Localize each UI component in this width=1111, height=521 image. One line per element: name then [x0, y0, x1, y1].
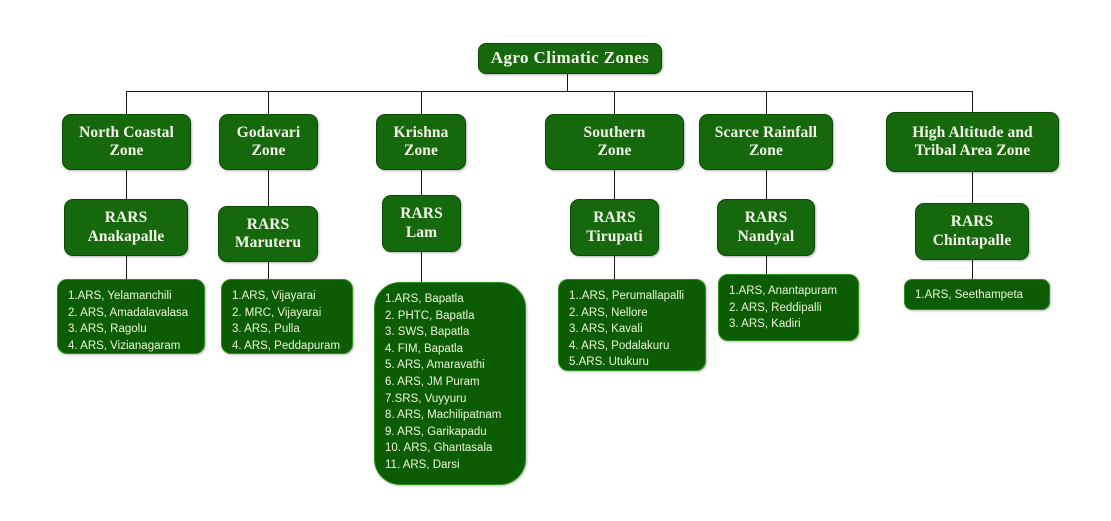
- connector-drop-scarce-rainfall: [766, 91, 767, 115]
- list-item: 1..ARS, Perumallapalli: [569, 288, 705, 305]
- zone-label-line1: High Altitude and: [912, 124, 1033, 142]
- zone-label-line2: Zone: [394, 142, 449, 160]
- station-list-maruteru[interactable]: 1.ARS, Vijayarai 2. MRC, Vijayarai 3. AR…: [221, 279, 353, 354]
- list-item: 10. ARS, Ghantasala: [385, 440, 525, 457]
- connector-scarce-to-rars: [766, 170, 767, 199]
- station-list: 1.ARS, Bapatla 2. PHTC, Bapatla 3. SWS, …: [385, 291, 525, 474]
- list-item: 4. FIM, Bapatla: [385, 341, 525, 358]
- zone-node-north-coastal[interactable]: North Coastal Zone: [62, 114, 191, 170]
- rars-node-nandyal[interactable]: RARS Nandyal: [717, 199, 815, 256]
- rars-label-line2: Anakapalle: [88, 228, 165, 246]
- connector-rars-tirupati-to-list: [614, 256, 615, 279]
- rars-node-maruteru[interactable]: RARS Maruteru: [218, 206, 318, 262]
- rars-label-line2: Chintapalle: [933, 232, 1012, 250]
- rars-node-chintapalle[interactable]: RARS Chintapalle: [915, 203, 1029, 260]
- station-list-lam[interactable]: 1.ARS, Bapatla 2. PHTC, Bapatla 3. SWS, …: [374, 282, 526, 485]
- connector-north-coastal-to-rars: [126, 170, 127, 199]
- list-item: 2. MRC, Vijayarai: [232, 305, 352, 322]
- list-item: 6. ARS, JM Puram: [385, 374, 525, 391]
- list-item: 7.SRS, Vuyyuru: [385, 391, 525, 408]
- connector-drop-high-altitude: [972, 91, 973, 112]
- list-item: 4. ARS, Vizianagaram: [68, 338, 204, 355]
- list-item: 3. ARS, Pulla: [232, 321, 352, 338]
- station-list: 1.ARS, Vijayarai 2. MRC, Vijayarai 3. AR…: [232, 288, 352, 354]
- list-item: 2. PHTC, Bapatla: [385, 308, 525, 325]
- list-item: 3. SWS, Bapatla: [385, 324, 525, 341]
- station-list: 1..ARS, Perumallapalli 2. ARS, Nellore 3…: [569, 288, 705, 371]
- agro-climatic-zones-diagram: Agro Climatic Zones North Coastal Zone G…: [0, 0, 1111, 521]
- list-item: 1.ARS, Yelamanchili: [68, 288, 204, 305]
- rars-label-line1: RARS: [88, 209, 165, 227]
- connector-rars-chintapalle-to-list: [972, 260, 973, 279]
- connector-southern-to-rars: [614, 170, 615, 199]
- zone-node-krishna[interactable]: Krishna Zone: [376, 114, 466, 170]
- connector-krishna-to-rars: [421, 170, 422, 195]
- zone-node-southern[interactable]: Southern Zone: [545, 114, 684, 170]
- rars-node-anakapalle[interactable]: RARS Anakapalle: [64, 199, 188, 256]
- zone-label-line2: Zone: [584, 142, 646, 160]
- rars-label-line2: Maruteru: [235, 234, 301, 252]
- list-item: 4. ARS, Podalakuru: [569, 338, 705, 355]
- zone-label-line1: North Coastal: [79, 124, 174, 142]
- connector-drop-southern: [614, 91, 615, 115]
- connector-rars-anakapalle-to-list: [126, 256, 127, 279]
- list-item: 3. ARS, Kadiri: [729, 316, 858, 333]
- station-list-nandyal[interactable]: 1.ARS, Anantapuram 2. ARS, Reddipalli 3.…: [718, 274, 859, 341]
- station-list-tirupati[interactable]: 1..ARS, Perumallapalli 2. ARS, Nellore 3…: [558, 279, 706, 371]
- list-item: 5. ARS, Amaravathi: [385, 357, 525, 374]
- list-item: 2. ARS, Reddipalli: [729, 300, 858, 317]
- connector-high-altitude-to-rars: [972, 172, 973, 203]
- zone-node-scarce-rainfall[interactable]: Scarce Rainfall Zone: [699, 114, 833, 170]
- zone-label-line1: Krishna: [394, 124, 449, 142]
- zone-label-line2: Zone: [715, 142, 817, 160]
- rars-label-line1: RARS: [586, 209, 643, 227]
- zone-node-godavari[interactable]: Godavari Zone: [219, 114, 318, 170]
- station-list: 1.ARS, Yelamanchili 2. ARS, Amadalavalas…: [68, 288, 204, 354]
- zone-label-line2: Zone: [237, 142, 301, 160]
- connector-drop-godavari: [268, 91, 269, 115]
- list-item: 1.ARS, Anantapuram: [729, 283, 858, 300]
- rars-label-line1: RARS: [738, 209, 795, 227]
- connector-drop-krishna: [421, 91, 422, 115]
- zone-label-line2: Zone: [79, 142, 174, 160]
- zone-label-line1: Southern: [584, 124, 646, 142]
- list-item: 3. ARS, Kavali: [569, 321, 705, 338]
- rars-label-line2: Nandyal: [738, 228, 795, 246]
- list-item: 2. ARS, Nellore: [569, 305, 705, 322]
- connector-godavari-to-rars: [268, 170, 269, 206]
- list-item: 11. ARS, Darsi: [385, 457, 525, 474]
- list-item: 1.ARS, Bapatla: [385, 291, 525, 308]
- connector-rars-lam-to-list: [421, 252, 422, 282]
- list-item: 9. ARS, Garikapadu: [385, 424, 525, 441]
- rars-label-line1: RARS: [933, 213, 1012, 231]
- station-list-anakapalle[interactable]: 1.ARS, Yelamanchili 2. ARS, Amadalavalas…: [57, 279, 205, 354]
- connector-drop-north-coastal: [126, 91, 127, 115]
- root-node-label: Agro Climatic Zones: [491, 48, 649, 68]
- zone-label-line2: Tribal Area Zone: [912, 142, 1033, 160]
- station-list-chintapalle[interactable]: 1.ARS, Seethampeta: [904, 279, 1050, 310]
- root-node-agro-climatic-zones[interactable]: Agro Climatic Zones: [478, 43, 662, 74]
- connector-rars-nandyal-to-list: [766, 256, 767, 274]
- rars-label-line2: Lam: [400, 224, 443, 242]
- station-list: 1.ARS, Seethampeta: [915, 287, 1049, 304]
- list-item: 5.ARS. Utukuru: [569, 354, 705, 371]
- list-item: 1.ARS, Seethampeta: [915, 287, 1049, 304]
- connector-root-stem: [567, 73, 568, 91]
- rars-node-lam[interactable]: RARS Lam: [382, 195, 461, 252]
- station-list: 1.ARS, Anantapuram 2. ARS, Reddipalli 3.…: [729, 283, 858, 333]
- zone-node-high-altitude[interactable]: High Altitude and Tribal Area Zone: [886, 112, 1059, 172]
- list-item: 3. ARS, Ragolu: [68, 321, 204, 338]
- rars-label-line1: RARS: [400, 205, 443, 223]
- list-item: 2. ARS, Amadalavalasa: [68, 305, 204, 322]
- zone-label-line1: Scarce Rainfall: [715, 124, 817, 142]
- rars-label-line1: RARS: [235, 216, 301, 234]
- rars-label-line2: Tirupati: [586, 228, 643, 246]
- zone-label-line1: Godavari: [237, 124, 301, 142]
- connector-rars-maruteru-to-list: [268, 262, 269, 279]
- list-item: 4. ARS, Peddapuram: [232, 338, 352, 355]
- list-item: 8. ARS, Machilipatnam: [385, 407, 525, 424]
- connector-horizontal-bus: [126, 91, 973, 92]
- list-item: 1.ARS, Vijayarai: [232, 288, 352, 305]
- rars-node-tirupati[interactable]: RARS Tirupati: [570, 199, 659, 256]
